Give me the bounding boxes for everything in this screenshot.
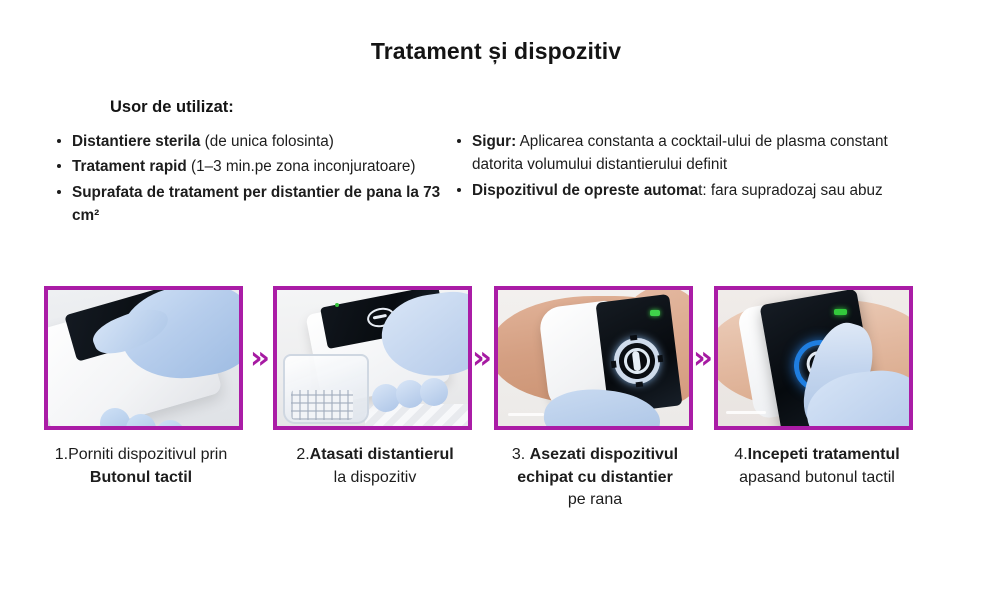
step-number: 4. — [734, 446, 747, 463]
feature-label: Tratament rapid — [72, 158, 187, 175]
list-item: Tratament rapid (1–3 min.pe zona inconju… — [52, 155, 444, 178]
list-item: Suprafata de tratament per distantier de… — [52, 181, 444, 228]
step-image-1 — [44, 286, 243, 430]
step-text-line2: echipat cu distantier — [517, 469, 673, 486]
feature-detail: Aplicarea constanta a cocktail-ului de p… — [472, 133, 888, 173]
list-item: Sigur: Aplicarea constanta a cocktail-ul… — [452, 130, 930, 177]
features-column-right: Sigur: Aplicarea constanta a cocktail-ul… — [452, 130, 930, 204]
step-text-line2: Butonul tactil — [90, 469, 192, 486]
chevron-right-icon: » — [468, 338, 496, 378]
feature-label: Suprafata de tratament per distantier de… — [72, 184, 440, 224]
step-text-line1: Porniti dispozitivul prin — [68, 446, 227, 463]
step-caption-4: 4.Incepeti tratamentul apasand butonul t… — [702, 444, 932, 489]
step-caption-3: 3. Asezati dispozitivul echipat cu dista… — [480, 444, 710, 512]
step-number: 3. — [512, 446, 530, 463]
target-ring-icon — [611, 335, 662, 386]
features-section: Distantiere sterila (de unica folosinta)… — [0, 130, 992, 270]
feature-detail: (1–3 min.pe zona inconjuratoare) — [187, 158, 416, 175]
highlight-bar — [726, 411, 766, 414]
step-text-line3: pe rana — [568, 491, 622, 508]
press-button-photo — [718, 290, 909, 426]
step-caption-1: 1.Porniti dispozitivul prin Butonul tact… — [26, 444, 256, 489]
step-image-4 — [714, 286, 913, 430]
status-led-icon — [650, 310, 660, 316]
steps-strip: » » » — [0, 286, 992, 436]
highlight-bar — [508, 413, 544, 416]
steps-captions: 1.Porniti dispozitivul prin Butonul tact… — [0, 444, 992, 534]
finger-knuckles — [372, 378, 464, 410]
device-on-wound-photo — [498, 290, 689, 426]
section-subheading: Usor de utilizat: — [110, 98, 234, 117]
list-item: Dispozitivul de opreste automat: fara su… — [452, 179, 930, 202]
feature-detail: t: fara supradozaj sau abuz — [698, 182, 883, 199]
feature-list-right: Sigur: Aplicarea constanta a cocktail-ul… — [452, 130, 930, 202]
step-text-line2: apasand butonul tactil — [739, 469, 895, 486]
status-led-icon — [335, 303, 339, 307]
feature-list-left: Distantiere sterila (de unica folosinta)… — [52, 130, 444, 227]
step-number: 2. — [296, 446, 309, 463]
feature-label: Sigur: — [472, 133, 516, 150]
step-number: 1. — [55, 446, 68, 463]
features-column-left: Distantiere sterila (de unica folosinta)… — [52, 130, 444, 229]
finger-tips — [100, 406, 196, 430]
device-touch-button-photo — [48, 290, 239, 426]
list-item: Distantiere sterila (de unica folosinta) — [52, 130, 444, 153]
spacer-mesh — [291, 390, 353, 420]
feature-detail: (de unica folosinta) — [200, 133, 334, 150]
page-title: Tratament și dispozitiv — [0, 38, 992, 65]
attach-spacer-photo — [277, 290, 468, 426]
step-text-line1: Asezati dispozitivul — [530, 446, 678, 463]
status-led-icon — [834, 309, 847, 315]
feature-label: Dispozitivul de opreste automa — [472, 182, 698, 199]
chevron-right-icon: » — [246, 338, 274, 378]
step-text-line1: Atasati distantierul — [310, 446, 454, 463]
step-image-2 — [273, 286, 472, 430]
step-text-line2: la dispozitiv — [334, 469, 417, 486]
chevron-right-icon: » — [689, 338, 717, 378]
step-caption-2: 2.Atasati distantierul la dispozitiv — [260, 444, 490, 489]
feature-label: Distantiere sterila — [72, 133, 200, 150]
step-image-3 — [494, 286, 693, 430]
step-text-line1: Incepeti tratamentul — [748, 446, 900, 463]
